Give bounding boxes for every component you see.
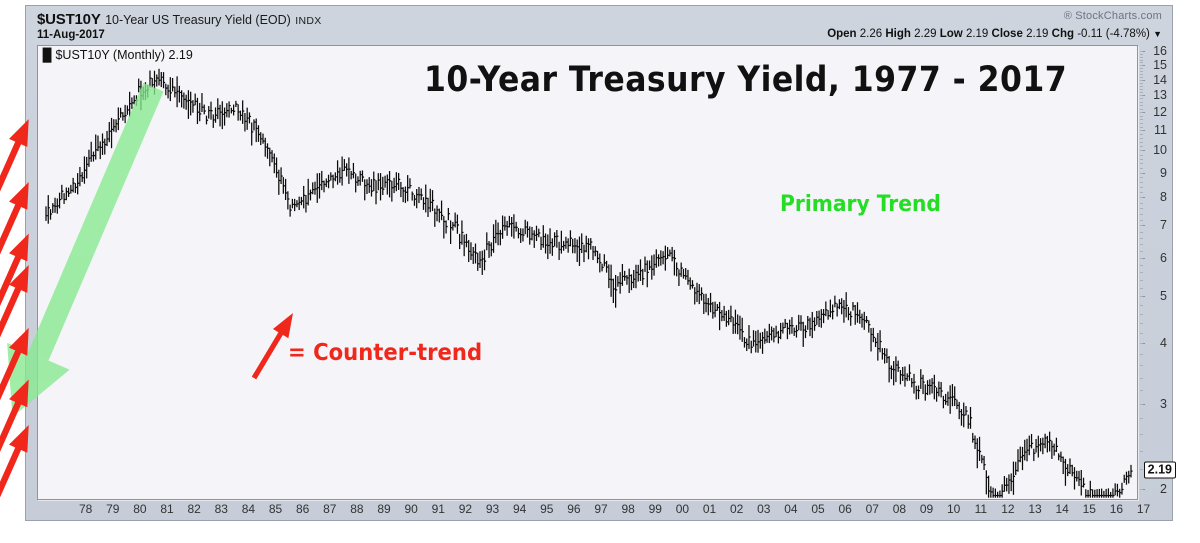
x-axis-label: 04 bbox=[784, 502, 797, 516]
x-axis-label: 92 bbox=[459, 502, 472, 516]
y-minor-tick bbox=[1140, 130, 1143, 131]
y-minor-tick bbox=[1140, 305, 1143, 306]
y-minor-tick bbox=[1140, 280, 1143, 281]
symbol-ticker[interactable]: $UST10Y bbox=[37, 11, 101, 28]
y-minor-tick bbox=[1140, 187, 1143, 188]
x-axis-label: 09 bbox=[920, 502, 933, 516]
symbol-line: $UST10Y 10-Year US Treasury Yield (EOD) … bbox=[37, 11, 322, 29]
close-value: 2.19 bbox=[1026, 28, 1048, 40]
y-axis-label: 12 bbox=[1145, 105, 1167, 119]
counter-trend-label: = Counter-trend bbox=[288, 340, 482, 366]
y-minor-tick bbox=[1140, 119, 1143, 120]
primary-trend-label: Primary Trend bbox=[780, 192, 941, 217]
y-minor-tick bbox=[1140, 238, 1143, 239]
y-minor-tick bbox=[1140, 163, 1143, 164]
chg-label: Chg bbox=[1052, 28, 1074, 40]
x-axis-label: 79 bbox=[106, 502, 119, 516]
open-label: Open bbox=[827, 28, 856, 40]
x-axis-label: 08 bbox=[893, 502, 906, 516]
symbol-description: 10-Year US Treasury Yield (EOD) bbox=[105, 13, 291, 27]
ohlc-bars bbox=[46, 69, 1133, 498]
x-axis-label: 05 bbox=[811, 502, 824, 516]
y-minor-tick bbox=[1140, 74, 1143, 75]
y-minor-tick bbox=[1140, 434, 1143, 435]
y-minor-tick bbox=[1140, 68, 1143, 69]
x-axis-label: 03 bbox=[757, 502, 770, 516]
y-minor-tick bbox=[1140, 258, 1143, 259]
y-minor-tick bbox=[1140, 173, 1143, 174]
plot-area[interactable]: █ $UST10Y (Monthly) 2.19 bbox=[37, 45, 1138, 500]
y-minor-tick bbox=[1140, 83, 1143, 84]
y-minor-tick bbox=[1140, 150, 1143, 151]
y-axis-label: 6 bbox=[1145, 251, 1167, 265]
y-axis-label: 2 bbox=[1145, 482, 1167, 496]
y-minor-tick bbox=[1140, 390, 1143, 391]
x-axis-label: 78 bbox=[79, 502, 92, 516]
low-label: Low bbox=[940, 28, 963, 40]
y-axis-label: 16 bbox=[1145, 44, 1167, 58]
x-axis-label: 17 bbox=[1137, 502, 1150, 516]
y-minor-tick bbox=[1140, 314, 1143, 315]
open-value: 2.26 bbox=[860, 28, 882, 40]
x-axis-label: 00 bbox=[676, 502, 689, 516]
y-minor-tick bbox=[1140, 116, 1143, 117]
x-axis-label: 01 bbox=[703, 502, 716, 516]
y-minor-tick bbox=[1140, 197, 1143, 198]
x-axis-label: 97 bbox=[594, 502, 607, 516]
close-label: Close bbox=[992, 28, 1023, 40]
y-minor-tick bbox=[1140, 89, 1143, 90]
high-label: High bbox=[885, 28, 911, 40]
y-minor-tick bbox=[1140, 102, 1143, 103]
y-minor-tick bbox=[1140, 469, 1143, 470]
y-minor-tick bbox=[1140, 208, 1143, 209]
y-minor-tick bbox=[1140, 168, 1143, 169]
x-axis-label: 15 bbox=[1083, 502, 1096, 516]
y-minor-tick bbox=[1140, 333, 1143, 334]
chevron-down-icon[interactable]: ▼ bbox=[1153, 29, 1162, 39]
current-price-tag: 2.19 bbox=[1144, 462, 1176, 479]
y-axis-label: 3 bbox=[1145, 397, 1167, 411]
x-axis-label: 02 bbox=[730, 502, 743, 516]
y-minor-tick bbox=[1140, 418, 1143, 419]
y-minor-tick bbox=[1140, 62, 1143, 63]
stockcharts-brand: ® StockCharts.com bbox=[1064, 10, 1162, 22]
y-minor-tick bbox=[1140, 123, 1143, 124]
y-minor-tick bbox=[1140, 192, 1143, 193]
chart-header: $UST10Y 10-Year US Treasury Yield (EOD) … bbox=[26, 6, 1172, 44]
x-axis-label: 91 bbox=[432, 502, 445, 516]
y-axis-label: 5 bbox=[1145, 289, 1167, 303]
y-axis-label: 13 bbox=[1145, 88, 1167, 102]
y-minor-tick bbox=[1140, 404, 1143, 405]
y-minor-tick bbox=[1140, 155, 1143, 156]
y-minor-tick bbox=[1140, 451, 1143, 452]
y-minor-tick bbox=[1140, 80, 1143, 81]
x-axis: 7879808182838485868788899091929394959697… bbox=[37, 500, 1138, 520]
high-value: 2.29 bbox=[914, 28, 936, 40]
x-axis-label: 83 bbox=[215, 502, 228, 516]
y-minor-tick bbox=[1140, 272, 1143, 273]
y-minor-tick bbox=[1140, 354, 1143, 355]
y-minor-tick bbox=[1140, 71, 1143, 72]
quote-date: 11-Aug-2017 bbox=[37, 29, 105, 41]
y-axis-label: 14 bbox=[1145, 73, 1167, 87]
y-minor-tick bbox=[1140, 105, 1143, 106]
ohlc-quote-bar: Open 2.26 High 2.29 Low 2.19 Close 2.19 … bbox=[827, 28, 1162, 40]
y-axis-label: 8 bbox=[1145, 190, 1167, 204]
price-series-svg bbox=[38, 46, 1138, 500]
y-minor-tick bbox=[1140, 232, 1143, 233]
x-axis-label: 12 bbox=[1001, 502, 1014, 516]
y-axis-label: 9 bbox=[1145, 166, 1167, 180]
x-axis-label: 16 bbox=[1110, 502, 1123, 516]
y-minor-tick bbox=[1140, 182, 1143, 183]
x-axis-label: 99 bbox=[649, 502, 662, 516]
y-minor-tick bbox=[1140, 323, 1143, 324]
x-axis-label: 93 bbox=[486, 502, 499, 516]
x-axis-label: 07 bbox=[866, 502, 879, 516]
symbol-exchange: INDX bbox=[295, 15, 321, 27]
stockcharts-screenshot: $UST10Y 10-Year US Treasury Yield (EOD) … bbox=[0, 0, 1200, 543]
x-axis-label: 86 bbox=[296, 502, 309, 516]
x-axis-label: 85 bbox=[269, 502, 282, 516]
y-axis: 16151413121110987654322.19 bbox=[1138, 45, 1178, 500]
y-minor-tick bbox=[1140, 177, 1143, 178]
y-minor-tick bbox=[1140, 112, 1143, 113]
y-minor-tick bbox=[1140, 98, 1143, 99]
y-minor-tick bbox=[1140, 365, 1143, 366]
x-axis-label: 88 bbox=[350, 502, 363, 516]
x-axis-label: 94 bbox=[513, 502, 526, 516]
y-minor-tick bbox=[1140, 109, 1143, 110]
y-minor-tick bbox=[1140, 65, 1143, 66]
x-axis-label: 96 bbox=[567, 502, 580, 516]
y-minor-tick bbox=[1140, 159, 1143, 160]
y-minor-tick bbox=[1140, 57, 1143, 58]
y-minor-tick bbox=[1140, 296, 1143, 297]
y-axis-label: 10 bbox=[1145, 143, 1167, 157]
plot-inner: █ $UST10Y (Monthly) 2.19 bbox=[38, 46, 1137, 499]
x-axis-label: 84 bbox=[242, 502, 255, 516]
low-value: 2.19 bbox=[966, 28, 988, 40]
x-axis-label: 90 bbox=[405, 502, 418, 516]
y-minor-tick bbox=[1140, 127, 1143, 128]
y-minor-tick bbox=[1140, 378, 1143, 379]
y-axis-label: 11 bbox=[1145, 123, 1167, 137]
y-minor-tick bbox=[1140, 244, 1143, 245]
x-axis-label: 98 bbox=[622, 502, 635, 516]
y-axis-label: 4 bbox=[1145, 336, 1167, 350]
y-minor-tick bbox=[1140, 265, 1143, 266]
y-minor-tick bbox=[1140, 288, 1143, 289]
y-minor-tick bbox=[1140, 214, 1143, 215]
y-minor-tick bbox=[1140, 51, 1143, 52]
x-axis-label: 81 bbox=[160, 502, 173, 516]
y-minor-tick bbox=[1140, 134, 1143, 135]
y-axis-label: 15 bbox=[1145, 58, 1167, 72]
x-axis-label: 11 bbox=[975, 502, 987, 516]
y-minor-tick bbox=[1140, 54, 1143, 55]
x-axis-label: 89 bbox=[377, 502, 390, 516]
y-minor-tick bbox=[1140, 220, 1143, 221]
x-axis-label: 80 bbox=[133, 502, 146, 516]
y-axis-label: 7 bbox=[1145, 218, 1167, 232]
y-minor-tick bbox=[1140, 86, 1143, 87]
y-minor-tick bbox=[1140, 142, 1143, 143]
y-minor-tick bbox=[1140, 343, 1143, 344]
y-minor-tick bbox=[1140, 203, 1143, 204]
x-axis-label: 13 bbox=[1028, 502, 1041, 516]
x-axis-label: 14 bbox=[1056, 502, 1069, 516]
x-axis-label: 82 bbox=[188, 502, 201, 516]
x-axis-label: 87 bbox=[323, 502, 336, 516]
chg-value: -0.11 (-4.78%) bbox=[1077, 28, 1150, 40]
y-minor-tick bbox=[1140, 225, 1143, 226]
x-axis-label: 95 bbox=[540, 502, 553, 516]
y-minor-tick bbox=[1140, 60, 1143, 61]
y-minor-tick bbox=[1140, 77, 1143, 78]
y-minor-tick bbox=[1140, 95, 1143, 96]
y-minor-tick bbox=[1140, 146, 1143, 147]
y-minor-tick bbox=[1140, 92, 1143, 93]
y-minor-tick bbox=[1140, 489, 1143, 490]
x-axis-label: 06 bbox=[839, 502, 852, 516]
x-axis-label: 10 bbox=[947, 502, 960, 516]
y-minor-tick bbox=[1140, 138, 1143, 139]
chart-title-annotation: 10-Year Treasury Yield, 1977 - 2017 bbox=[424, 60, 1067, 100]
y-minor-tick bbox=[1140, 251, 1143, 252]
